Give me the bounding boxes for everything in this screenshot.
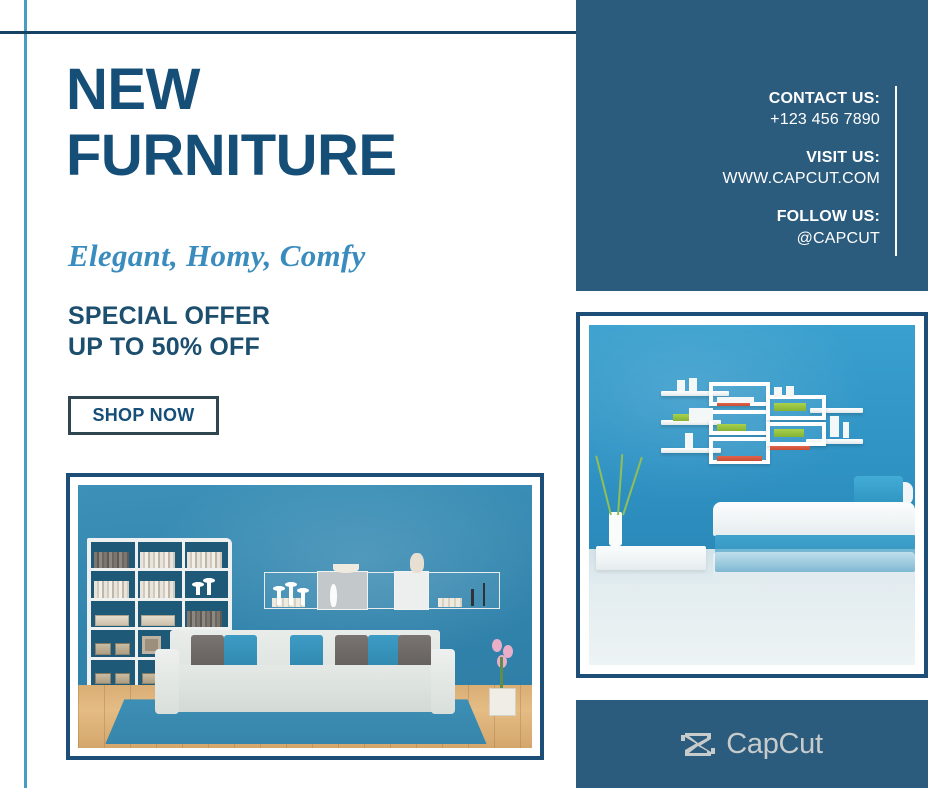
orchid-pot [489,688,515,716]
shelf-black-candle-1 [471,589,474,606]
shelf-box-center [317,571,368,610]
shelf-book-white [689,408,713,420]
bookshelf-cell [138,571,182,598]
bookshelf-cell [91,601,135,628]
shelf-vase [774,387,782,397]
shelf-book-red [717,403,749,407]
floating-shelf-composition [661,376,863,471]
offer-line-1: SPECIAL OFFER [68,302,270,330]
shelf-vase [689,378,697,391]
bookshelf-cell [138,542,182,569]
decorative-vertical-rule [24,0,27,788]
main-photo-frame [66,473,544,760]
shelf-book-green [774,429,804,437]
website-url[interactable]: WWW.CAPCUT.COM [723,168,880,189]
living-room-photo [78,485,532,748]
orchid-flower [492,639,502,652]
tagline: Elegant, Homy, Comfy [68,238,366,274]
daybed [713,502,915,577]
shelf-vase [843,422,849,438]
shelf-box-right [394,571,429,610]
shelf-book-red [770,446,810,450]
shelf-vase-pair [330,584,337,607]
special-offer-text: SPECIAL OFFER UP TO 50% OFF [68,301,270,362]
decorative-twigs [599,454,638,515]
offer-line-2: UP TO 50% OFF [68,332,270,363]
sofa-arm-left [155,649,179,713]
bookshelf-cell [185,571,229,598]
brand-panel: CapCut [576,700,928,788]
daybed-base [715,535,915,572]
bookshelf-candlesticks [192,577,220,596]
contact-panel: CONTACT US: +123 456 7890 VISIT US: WWW.… [576,0,928,291]
shelf-book-white [717,397,753,403]
shelf-book-red [717,456,761,461]
shelf-candlesticks-left [274,580,311,604]
shelf-books-right [438,598,461,607]
daybed-mattress [713,502,915,536]
visit-us-label: VISIT US: [723,147,880,168]
floor-vase [609,512,622,546]
shelf-tall-vase [410,553,424,574]
follow-us-label: FOLLOW US: [723,206,880,227]
bookshelf-cell [185,542,229,569]
contact-phone-group: CONTACT US: +123 456 7890 [723,88,880,130]
brand-name: CapCut [726,728,823,761]
headline-line-2: FURNITURE [66,128,566,184]
sofa [155,630,455,719]
shelf-vase [786,386,794,397]
shelf-vase [677,380,685,391]
sofa-seat [155,665,455,711]
shop-now-button[interactable]: SHOP NOW [68,396,219,435]
console-table [596,546,707,570]
contact-us-label: CONTACT US: [723,88,880,109]
contact-website-group: VISIT US: WWW.CAPCUT.COM [723,147,880,189]
bookshelf-cell [91,660,135,687]
bookshelf-cell [91,542,135,569]
page-title: NEW FURNITURE [66,62,566,185]
contact-details: CONTACT US: +123 456 7890 VISIT US: WWW.… [723,88,880,249]
phone-number[interactable]: +123 456 7890 [723,109,880,130]
social-handle[interactable]: @CAPCUT [723,228,880,249]
sofa-arm-right [431,649,455,713]
headline-line-1: NEW [66,57,200,122]
shelf-bowl [333,564,359,573]
contact-social-group: FOLLOW US: @CAPCUT [723,206,880,248]
shelf-book-green [717,424,745,432]
bookshelf-cell [138,601,182,628]
capcut-hourglass-icon [681,731,715,758]
wall-shelf-unit [264,572,500,609]
bedroom-photo [589,325,915,665]
bookshelf-cell [91,630,135,657]
bookshelf-cell [185,601,229,628]
side-photo-frame [576,312,928,678]
shelf-black-candle-2 [483,583,486,606]
shelf-book-green [774,403,806,412]
bookshelf-cell [91,571,135,598]
orchid-plant [482,638,523,717]
shelf-vase [830,416,838,437]
contact-divider-line [895,86,897,256]
shelf-vase [685,433,693,448]
poster-canvas: NEW FURNITURE Elegant, Homy, Comfy SPECI… [0,0,940,788]
